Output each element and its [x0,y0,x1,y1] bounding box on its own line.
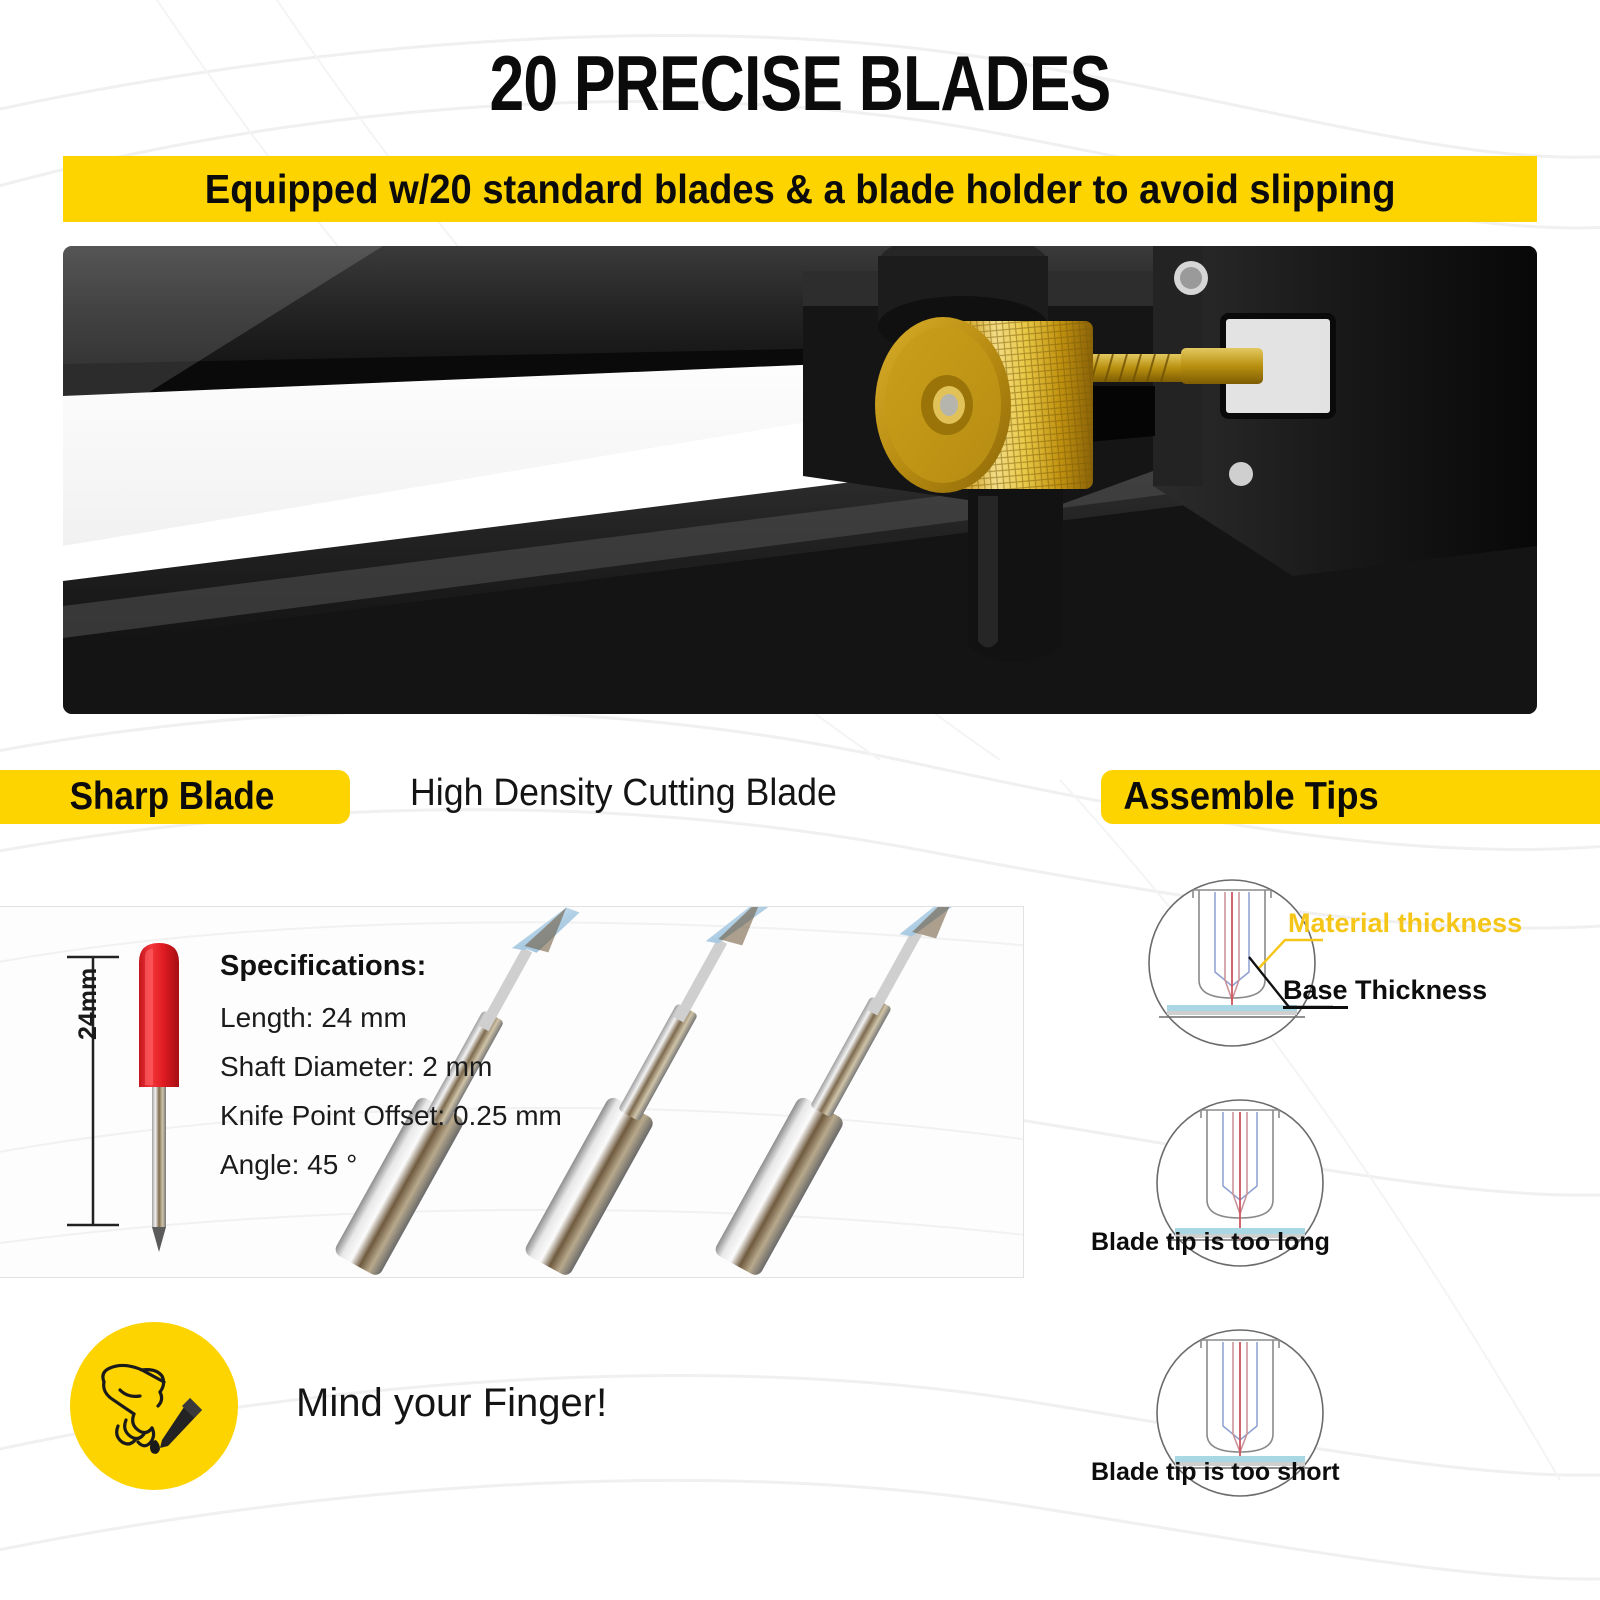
spec-line-angle: Angle: 45 ° [220,1149,780,1181]
badge-sharp-blade: Sharp Blade [0,770,350,824]
spec-line-knife-point-offset: Knife Point Offset: 0.25 mm [220,1100,780,1132]
specifications-title: Specifications: [220,950,780,983]
warning-badge [70,1322,238,1490]
assemble-tip-caption-too-long: Blade tip is too long [1091,1228,1330,1257]
label-base-thickness-underlined: Base [1283,975,1348,1009]
hand-blade-warning-icon [90,1342,218,1470]
sharp-blade-description: High Density Cutting Blade [410,772,837,815]
assemble-tip-caption-too-short: Blade tip is too short [1091,1458,1340,1487]
subtitle-text: Equipped w/20 standard blades & a blade … [205,166,1396,213]
blade-dimension-label: 24mm [74,968,103,1040]
label-material-thickness: Material thickness [1288,908,1522,939]
cutter-carriage-illustration [63,246,1537,714]
hero-product-photo [63,246,1537,714]
label-base-thickness: Base Thickness [1283,975,1487,1006]
badge-assemble-tips-label: Assemble Tips [1101,775,1379,819]
specifications-list: Specifications: Length: 24 mm Shaft Diam… [220,950,780,1198]
badge-assemble-tips: Assemble Tips [1101,770,1600,824]
subtitle-banner: Equipped w/20 standard blades & a blade … [63,156,1537,222]
spec-line-shaft-diameter: Shaft Diameter: 2 mm [220,1051,780,1083]
spec-line-length: Length: 24 mm [220,1002,780,1034]
badge-sharp-blade-label: Sharp Blade [55,775,274,819]
warning-text: Mind your Finger! [296,1381,607,1426]
label-base-thickness-rest: Thickness [1348,975,1488,1005]
page-title: 20 PRECISE BLADES [160,40,1440,126]
